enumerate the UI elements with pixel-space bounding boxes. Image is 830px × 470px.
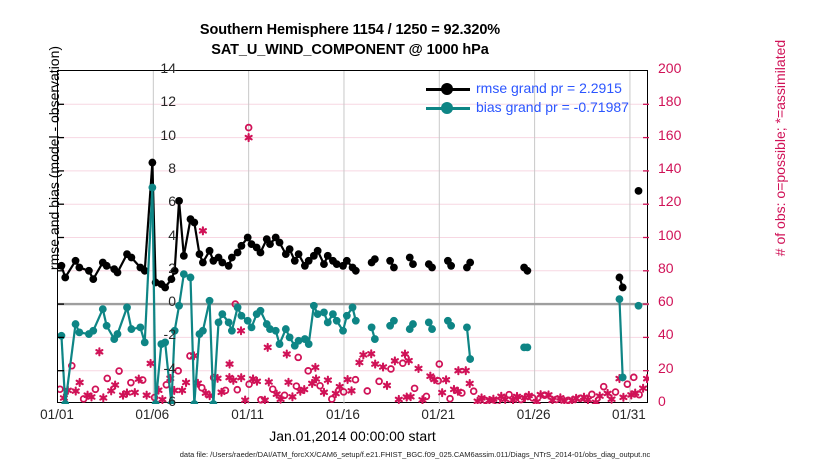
x-axis-tick-label: 01/01 [22, 408, 92, 422]
legend-label-rmse: rmse grand pr = 2.2915 [476, 80, 622, 96]
y-axis-tick-label: 8 [116, 161, 176, 175]
y2-axis-tick-label: 80 [658, 261, 718, 275]
y2-axis-label: # of obs: o=possible; *=assimilated [772, 0, 788, 298]
legend-item-bias: bias grand pr = -0.71987 [424, 98, 642, 117]
legend-label-bias: bias grand pr = -0.71987 [476, 99, 629, 115]
y-axis-tick-label: 14 [116, 61, 176, 75]
legend-marker-bias [441, 102, 453, 114]
y2-axis-tick-label: 100 [658, 228, 718, 242]
y2-axis-tick-label: 0 [658, 394, 718, 408]
y2-axis-tick-label: 200 [658, 61, 718, 75]
legend-item-rmse: rmse grand pr = 2.2915 [424, 79, 642, 98]
y-axis-tick-label: 0 [116, 294, 176, 308]
y-axis-tick-label: 10 [116, 128, 176, 142]
x-axis-tick-label: 01/21 [403, 408, 473, 422]
y2-axis-tick-label: 60 [658, 294, 718, 308]
y-axis-label: rmse and bias (model - observation) [46, 8, 62, 308]
x-axis-tick-label: 01/26 [499, 408, 569, 422]
y2-axis-tick-label: 180 [658, 94, 718, 108]
y2-axis-tick-label: 120 [658, 194, 718, 208]
x-axis-tick-label: 01/16 [308, 408, 378, 422]
page-subtitle: SAT_U_WIND_COMPONENT @ 1000 hPa [0, 42, 700, 58]
legend: rmse grand pr = 2.2915 bias grand pr = -… [424, 79, 642, 119]
x-axis-tick-label: 01/06 [117, 408, 187, 422]
y-axis-tick-label: 12 [116, 94, 176, 108]
y-axis-tick-label: -6 [116, 394, 176, 408]
x-axis-tick-label: 01/31 [594, 408, 664, 422]
y2-axis-tick-label: 20 [658, 361, 718, 375]
data-file-footnote: data file: /Users/raeder/DAI/ATM_forcXX/… [0, 450, 830, 459]
y2-axis-tick-label: 160 [658, 128, 718, 142]
x-axis-label: Jan.01,2014 00:00:00 start [57, 428, 648, 444]
y-axis-tick-label: -2 [116, 327, 176, 341]
y-axis-tick-label: 2 [116, 261, 176, 275]
legend-marker-rmse [441, 83, 453, 95]
x-axis-tick-label: 01/11 [213, 408, 283, 422]
y-axis-tick-label: 6 [116, 194, 176, 208]
y2-axis-tick-label: 40 [658, 327, 718, 341]
page-title: Southern Hemisphere 1154 / 1250 = 92.320… [0, 22, 700, 38]
y-axis-tick-label: -4 [116, 361, 176, 375]
plot-page: Southern Hemisphere 1154 / 1250 = 92.320… [0, 0, 830, 470]
y-axis-tick-label: 4 [116, 228, 176, 242]
y2-axis-tick-label: 140 [658, 161, 718, 175]
